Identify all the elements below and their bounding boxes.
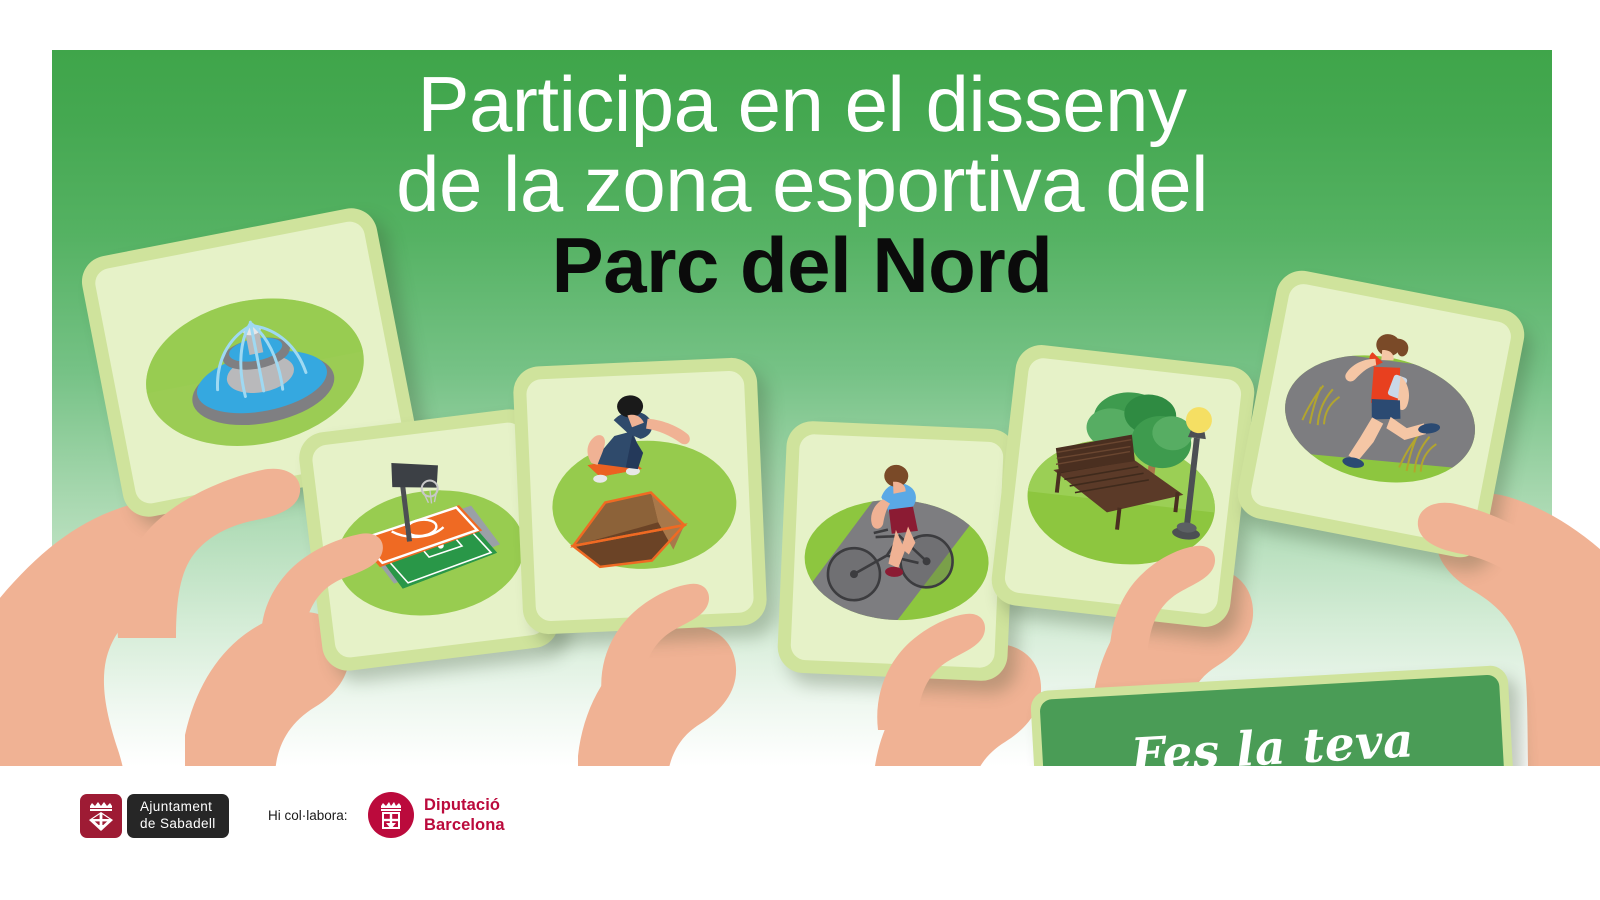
- collaborator-label: Hi col·labora:: [268, 808, 348, 823]
- hand-right-1-finger: [1088, 520, 1228, 680]
- logo-ajuntament-sabadell[interactable]: Ajuntament de Sabadell: [80, 794, 229, 838]
- diba-name: Diputació Barcelona: [424, 795, 505, 835]
- sabadell-line-1: Ajuntament: [140, 799, 216, 816]
- sabadell-name-box: Ajuntament de Sabadell: [127, 794, 229, 838]
- diba-crest-icon: [368, 792, 414, 838]
- sabadell-crest-icon: [80, 794, 122, 838]
- logo-diputacio-barcelona[interactable]: Diputació Barcelona: [368, 792, 505, 838]
- sabadell-line-2: de Sabadell: [140, 816, 216, 833]
- diba-line-2: Barcelona: [424, 815, 505, 835]
- diba-line-1: Diputació: [424, 795, 505, 815]
- hand-middle-right-finger: [862, 592, 1002, 732]
- poster-stage: Participa en el disseny de la zona espor…: [0, 0, 1600, 900]
- hand-middle-left-finger: [582, 560, 722, 700]
- footer-logos: Ajuntament de Sabadell Hi col·labora: Di…: [0, 766, 1600, 900]
- hand-left-2-finger: [248, 520, 398, 650]
- hand-right-2-fingers: [1348, 446, 1600, 676]
